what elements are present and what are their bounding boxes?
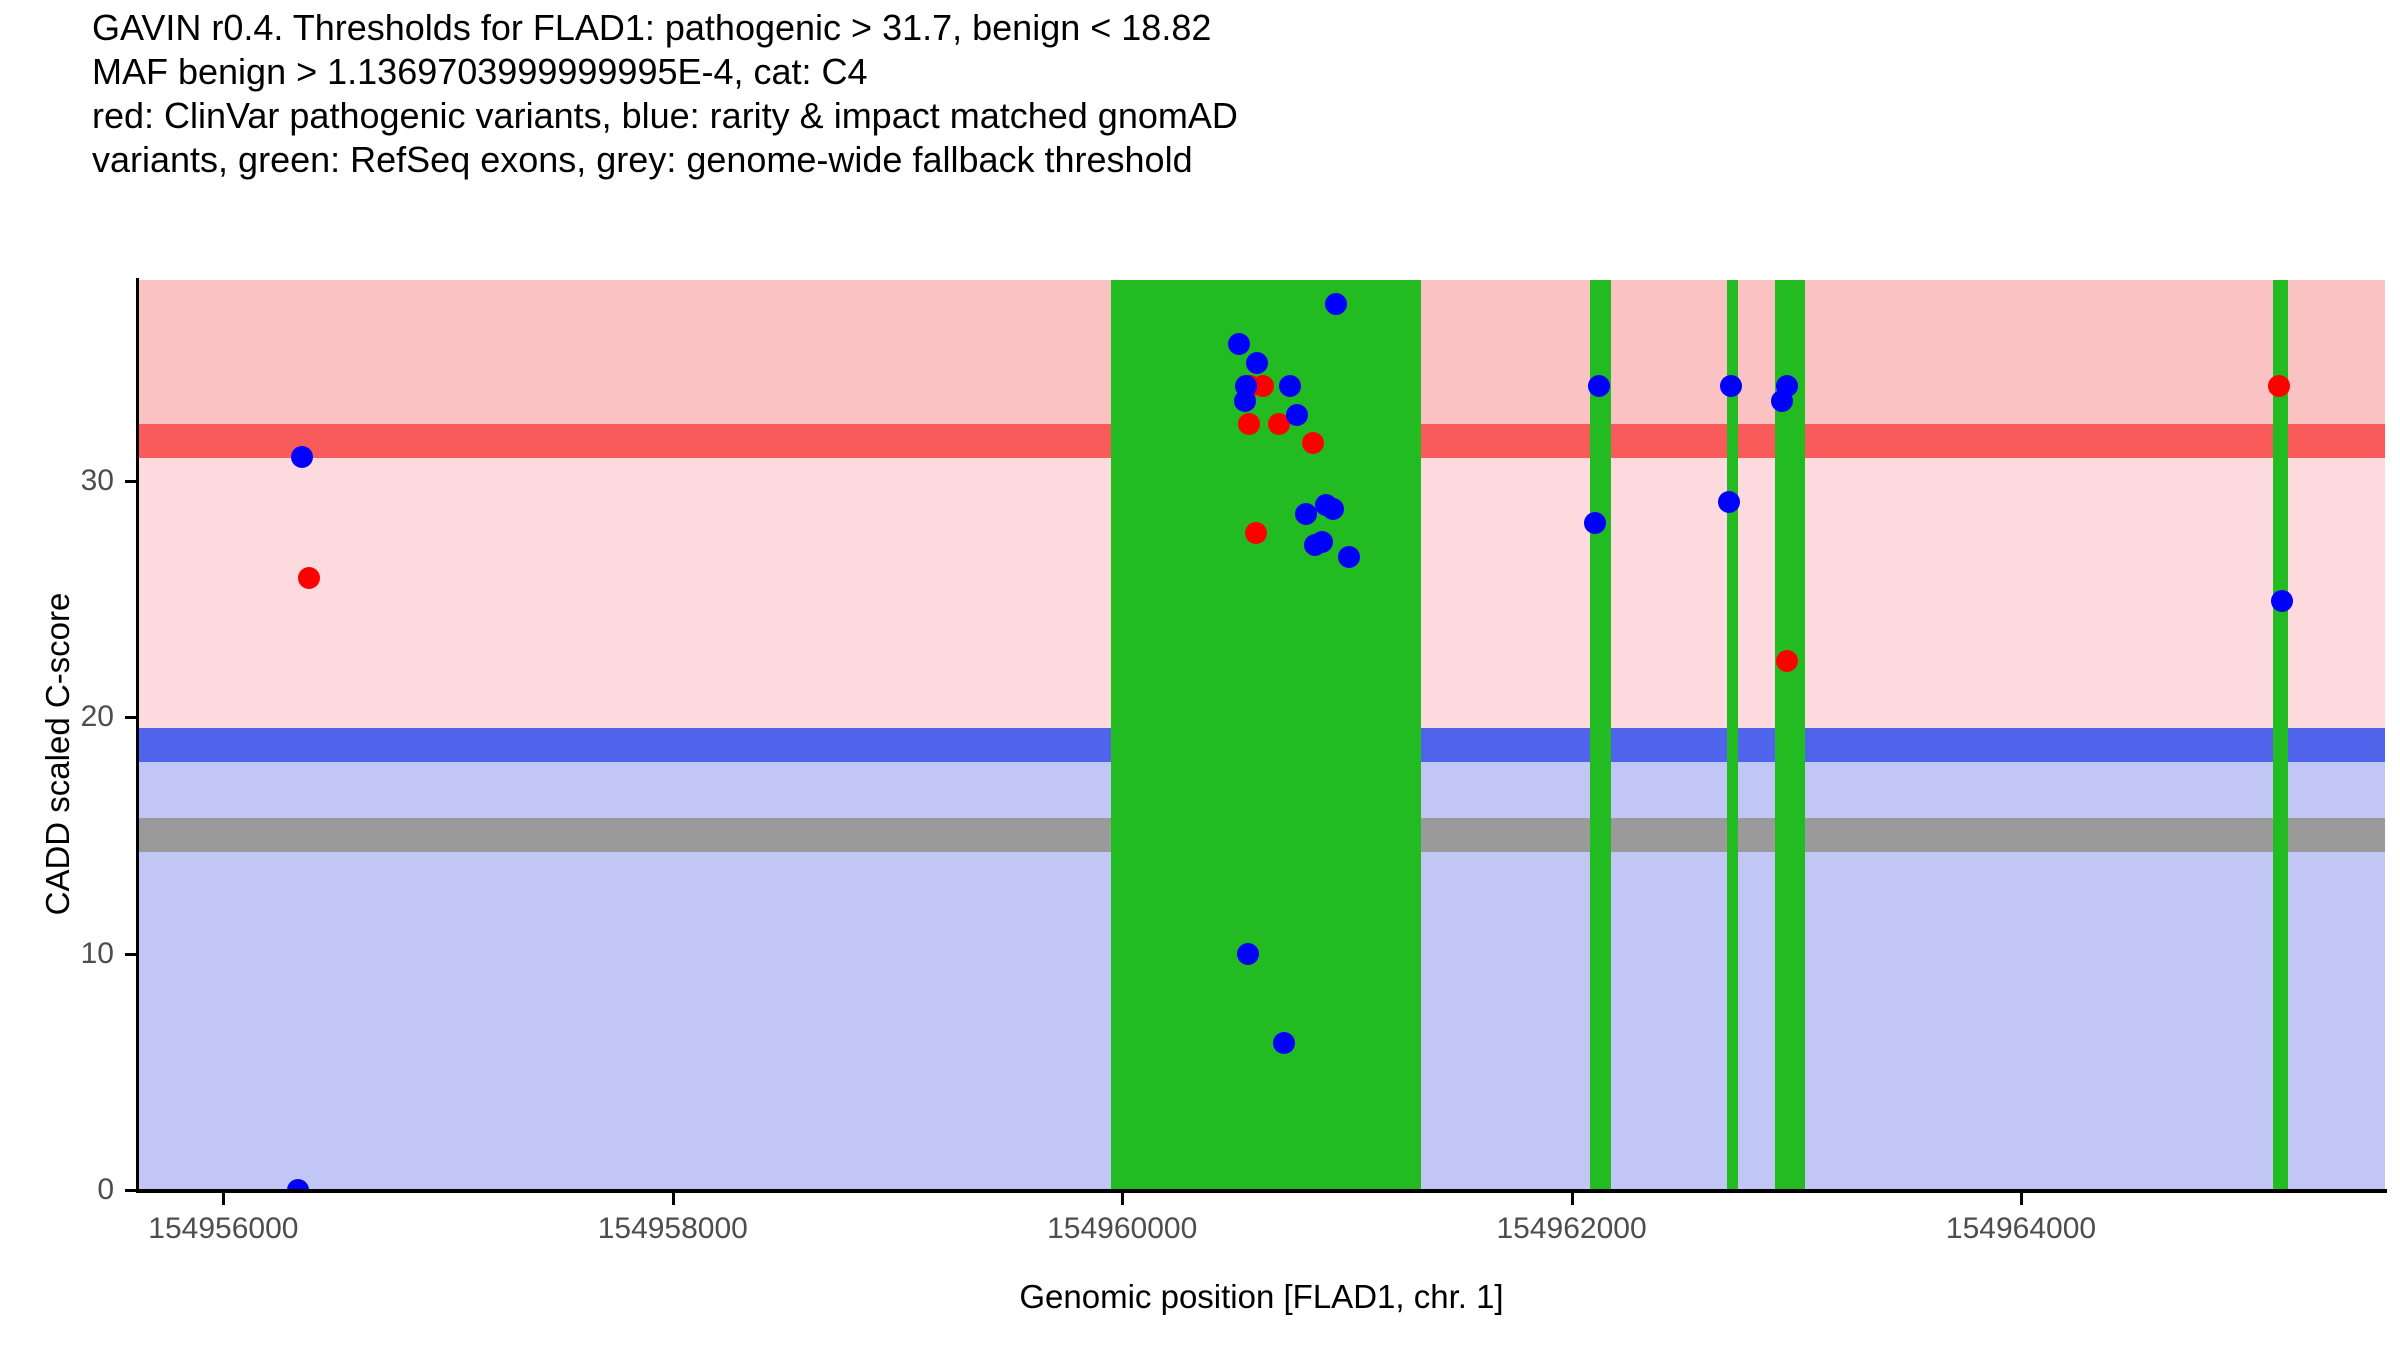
gnomad-variant-point[interactable]: [1237, 943, 1259, 965]
y-axis-title: CADD scaled C-score: [39, 404, 77, 1104]
clinvar-variant-point[interactable]: [1245, 522, 1267, 544]
gnomad-variant-point[interactable]: [1325, 293, 1347, 315]
x-tick-label: 154962000: [1496, 1212, 1646, 1246]
y-axis-line: [136, 278, 139, 1192]
x-tick-label: 154956000: [148, 1212, 298, 1246]
gnomad-variant-point[interactable]: [2271, 590, 2293, 612]
x-tick-mark: [1571, 1193, 1574, 1205]
x-tick-label: 154960000: [1047, 1212, 1197, 1246]
clinvar-variant-point[interactable]: [1776, 650, 1798, 672]
chart-root: GAVIN r0.4. Thresholds for FLAD1: pathog…: [0, 0, 2400, 1350]
gnomad-variant-point[interactable]: [1338, 546, 1360, 568]
x-axis-title: Genomic position [FLAD1, chr. 1]: [138, 1278, 2385, 1316]
y-tick-label: 20: [81, 700, 114, 734]
y-tick-mark: [125, 953, 136, 956]
chart-title-block: GAVIN r0.4. Thresholds for FLAD1: pathog…: [92, 6, 2372, 182]
x-tick-mark: [222, 1193, 225, 1205]
title-line-3: red: ClinVar pathogenic variants, blue: …: [92, 94, 2372, 138]
gnomad-variant-point[interactable]: [1771, 390, 1793, 412]
clinvar-variant-point[interactable]: [298, 567, 320, 589]
title-line-4: variants, green: RefSeq exons, grey: gen…: [92, 138, 2372, 182]
plot-panel: [138, 280, 2385, 1190]
gnomad-variant-point[interactable]: [1588, 375, 1610, 397]
title-line-1: GAVIN r0.4. Thresholds for FLAD1: pathog…: [92, 6, 2372, 50]
gnomad-variant-point[interactable]: [1279, 375, 1301, 397]
gnomad-variant-point[interactable]: [1228, 333, 1250, 355]
y-tick-mark: [125, 480, 136, 483]
gnomad-variant-point[interactable]: [1718, 491, 1740, 513]
gnomad-variant-point[interactable]: [1286, 404, 1308, 426]
x-tick-label: 154964000: [1946, 1212, 2096, 1246]
exon-bar: [1775, 280, 1805, 1190]
y-tick-mark: [125, 1189, 136, 1192]
y-tick-label: 10: [81, 937, 114, 971]
x-tick-mark: [672, 1193, 675, 1205]
x-tick-mark: [1121, 1193, 1124, 1205]
gnomad-variant-point[interactable]: [1234, 390, 1256, 412]
y-tick-mark: [125, 716, 136, 719]
gnomad-variant-point[interactable]: [1246, 352, 1268, 374]
exon-bar: [1590, 280, 1611, 1190]
exon-bar: [1111, 280, 1421, 1190]
y-tick-label: 0: [97, 1173, 114, 1207]
x-tick-mark: [2020, 1193, 2023, 1205]
x-axis-line: [136, 1189, 2387, 1193]
x-tick-label: 154958000: [598, 1212, 748, 1246]
title-line-2: MAF benign > 1.1369703999999995E-4, cat:…: [92, 50, 2372, 94]
exon-bar: [2273, 280, 2289, 1190]
y-tick-label: 30: [81, 464, 114, 498]
exon-bar: [1727, 280, 1738, 1190]
